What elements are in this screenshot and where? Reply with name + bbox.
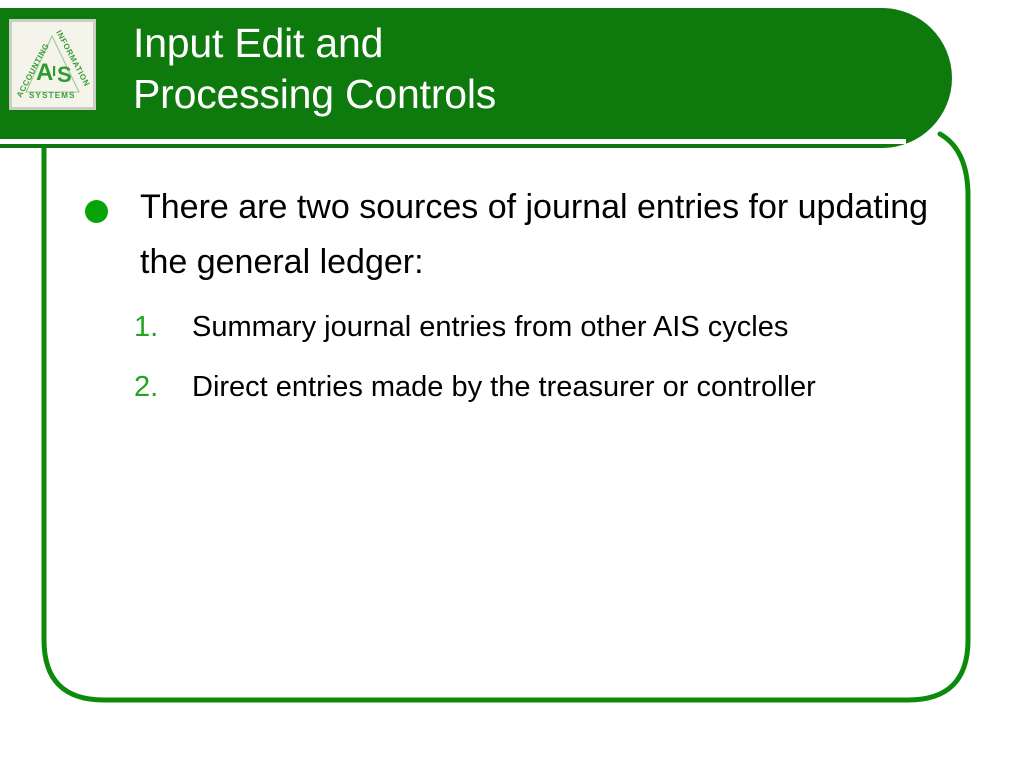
title-underline bbox=[0, 139, 906, 144]
list-item-number: 1. bbox=[134, 304, 158, 350]
slide: ACCOUNTING INFORMATION SYSTEMS A I S Inp… bbox=[0, 0, 1024, 768]
list-item-number: 2. bbox=[134, 364, 158, 410]
list-item: 1. Summary journal entries from other AI… bbox=[62, 304, 962, 350]
svg-text:A: A bbox=[36, 59, 53, 86]
list-item: 2. Direct entries made by the treasurer … bbox=[62, 364, 962, 410]
list-item-text: Direct entries made by the treasurer or … bbox=[192, 364, 922, 410]
bullet-item: There are two sources of journal entries… bbox=[62, 180, 962, 290]
svg-text:S: S bbox=[57, 62, 72, 87]
list-item-text: Summary journal entries from other AIS c… bbox=[192, 304, 922, 350]
ais-logo: ACCOUNTING INFORMATION SYSTEMS A I S bbox=[9, 19, 96, 110]
slide-body: There are two sources of journal entries… bbox=[62, 180, 962, 410]
svg-text:I: I bbox=[52, 63, 56, 80]
page-title: Input Edit and Processing Controls bbox=[133, 18, 933, 120]
bullet-text: There are two sources of journal entries… bbox=[140, 180, 960, 290]
bullet-disc-icon bbox=[85, 200, 108, 223]
